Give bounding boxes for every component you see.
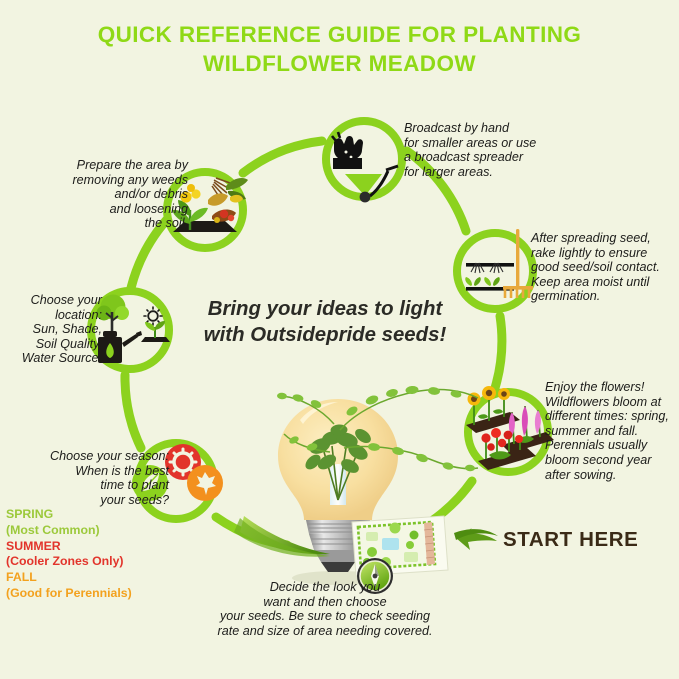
season-legend: SPRING (Most Common) SUMMER (Cooler Zone… [6,507,169,602]
season-fall-name: FALL [6,570,169,586]
caption-season: Choose your season: When is the best tim… [6,449,169,507]
season-summer-note: (Cooler Zones Only) [6,554,169,570]
caption-prepare: Prepare the area by removing any weeds a… [40,158,188,231]
start-here-label: START HERE [503,528,638,552]
caption-decide: Decide the look you want and then choose… [214,580,436,638]
node-broadcast [326,121,402,202]
season-fall-note: (Good for Perennials) [6,586,169,602]
caption-enjoy: Enjoy the flowers! Wildflowers bloom at … [545,380,679,482]
season-spring-name: SPRING [6,507,169,523]
season-spring-note: (Most Common) [6,523,169,539]
center-slogan: Bring your ideas to light with Outsidepr… [180,296,470,348]
season-summer-name: SUMMER [6,539,169,555]
infographic-canvas: QUICK REFERENCE GUIDE FOR PLANTING WILDF… [0,0,679,679]
node-enjoy [466,386,554,472]
start-here-arrow [454,528,498,550]
caption-location: Choose your location: Sun, Shade, Soil Q… [2,293,102,366]
caption-broadcast: Broadcast by hand for smaller areas or u… [404,121,564,179]
node-location [91,291,170,369]
caption-rake: After spreading seed, rake lightly to en… [531,231,679,304]
